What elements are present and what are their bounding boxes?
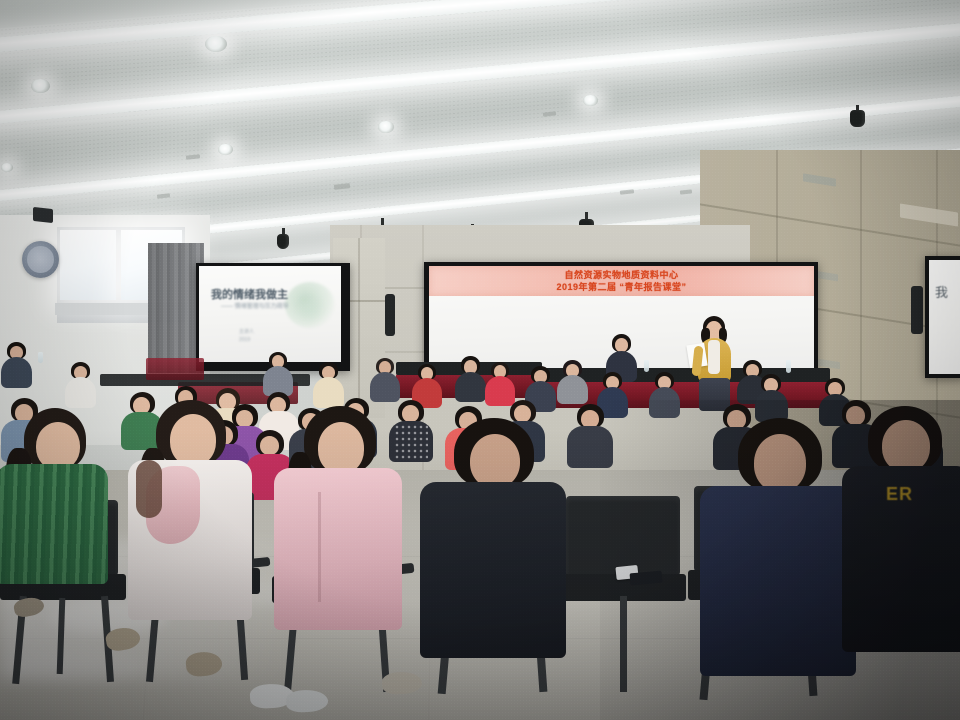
left-projection-screen[interactable]: 我的情绪我做主 —— 情绪管理与压力疏导 主讲人 2019 (199, 266, 341, 362)
spotlight (276, 228, 290, 250)
speaker (385, 294, 395, 336)
downlight (1, 163, 13, 172)
list-item (700, 418, 860, 708)
downlight (31, 79, 50, 93)
scarf (136, 460, 162, 518)
air-grille (900, 203, 958, 226)
wall-clock (22, 241, 59, 278)
left-slide-footer-2: 2019 (239, 337, 250, 343)
chair[interactable] (560, 496, 690, 696)
list-item (64, 362, 98, 408)
bottle (786, 360, 791, 373)
torso (274, 468, 402, 630)
speaker (911, 286, 923, 334)
list-item (648, 372, 682, 418)
event-banner: 自然资源实物地质资料中心 2019年第二届 “青年报告课堂” (429, 266, 814, 296)
window (60, 230, 116, 300)
speaker (33, 207, 53, 223)
spotlight (849, 105, 865, 131)
downlight (583, 95, 598, 106)
downlight (378, 121, 394, 133)
list-item (420, 418, 570, 698)
bottle (38, 352, 43, 363)
right-screen-text: 我 (935, 282, 948, 301)
torso (0, 464, 108, 584)
left-slide-subtitle: —— 情绪管理与压力疏导 (221, 301, 289, 310)
presenter (690, 316, 738, 411)
banner-line-2: 2019年第二届 “青年报告课堂” (556, 281, 686, 293)
audience-member-stage-left-2 (556, 360, 590, 404)
downlight (218, 144, 233, 155)
list-item (0, 408, 110, 628)
conference-hall-photo: 我的情绪我做主 —— 情绪管理与压力疏导 主讲人 2019 自然资源实物地质资料… (0, 0, 960, 720)
torso (700, 486, 856, 676)
downlight (205, 36, 227, 52)
torso (420, 482, 566, 658)
bottle (644, 360, 649, 372)
side-seating (146, 358, 204, 380)
list-item (272, 406, 406, 668)
list-item (566, 404, 614, 468)
jacket-logo-text: ER (886, 484, 913, 505)
list-item (370, 358, 402, 402)
list-item (0, 342, 34, 388)
list-item: ER (844, 406, 960, 686)
wall-vent (803, 173, 836, 186)
left-slide-footer-1: 主讲人 (239, 328, 254, 335)
left-slide-title: 我的情绪我做主 (211, 286, 288, 302)
banner-line-1: 自然资源实物地质资料中心 (564, 269, 678, 281)
audience-member-stage-left (454, 356, 488, 402)
list-item (263, 352, 295, 396)
list-item (126, 400, 258, 660)
right-projection-screen[interactable]: 我 (929, 260, 960, 374)
presenter-inner-top (708, 340, 720, 374)
